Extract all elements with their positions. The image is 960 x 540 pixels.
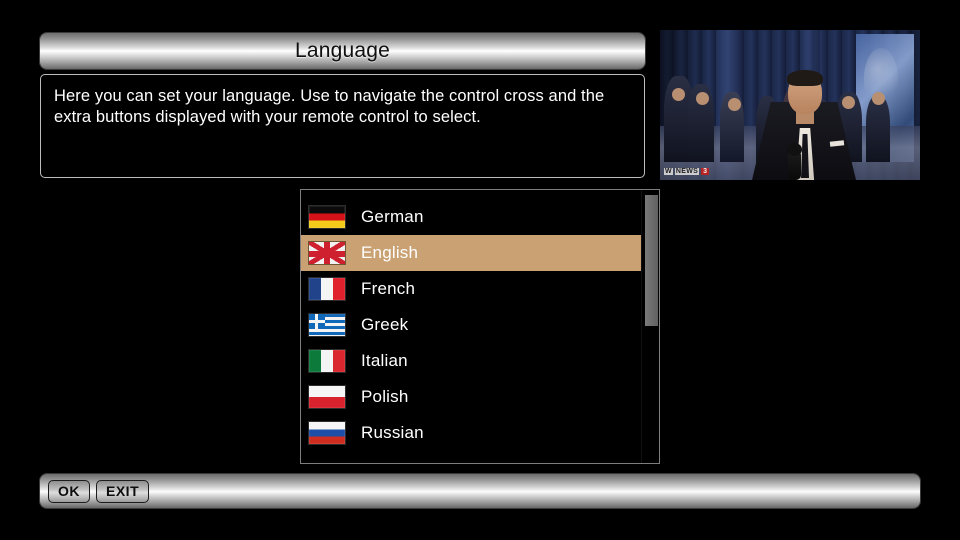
- scrollbar-thumb[interactable]: [645, 195, 658, 326]
- video-crowd-figure: [866, 96, 890, 162]
- language-list: German English French Greek Italian: [301, 190, 641, 463]
- language-list-panel: German English French Greek Italian: [300, 189, 660, 464]
- video-crowd-head: [872, 92, 885, 105]
- window-title-bar: Language: [40, 33, 645, 69]
- list-item-label: Polish: [361, 387, 409, 407]
- list-item-label: Russian: [361, 423, 424, 443]
- help-description-text: Here you can set your language. Use to n…: [54, 86, 631, 128]
- page-title: Language: [295, 39, 390, 63]
- channel-logo-suffix: 3: [701, 168, 709, 175]
- tv-osd-screen: Language Here you can set your language.…: [0, 0, 960, 540]
- list-item[interactable]: English: [301, 235, 641, 271]
- footer-softkey-bar: OK EXIT: [40, 474, 920, 508]
- channel-logo-text: NEWS: [675, 168, 699, 175]
- flag-greece-icon: [308, 313, 346, 337]
- video-crowd-head: [672, 88, 685, 101]
- flag-germany-icon: [308, 205, 346, 229]
- flag-united-kingdom-icon: [308, 241, 346, 265]
- list-item-label: German: [361, 207, 424, 227]
- live-video-preview[interactable]: W NEWS 3: [660, 30, 920, 180]
- flag-uk-cross-vertical: [324, 242, 330, 264]
- list-item[interactable]: Greek: [301, 307, 641, 343]
- list-item[interactable]: Russian: [301, 415, 641, 451]
- channel-logo-prefix: W: [664, 168, 673, 175]
- list-item-label: Italian: [361, 351, 408, 371]
- list-item-label: French: [361, 279, 415, 299]
- flag-france-icon: [308, 277, 346, 301]
- list-item[interactable]: Polish: [301, 379, 641, 415]
- list-item-label: English: [361, 243, 418, 263]
- video-crowd-head: [842, 96, 855, 109]
- microphone-icon: [788, 150, 801, 180]
- ok-button[interactable]: OK: [48, 480, 90, 503]
- flag-russia-icon: [308, 421, 346, 445]
- list-item[interactable]: German: [301, 199, 641, 235]
- video-reporter-hair: [787, 70, 823, 86]
- list-item[interactable]: French: [301, 271, 641, 307]
- channel-logo-bug: W NEWS 3: [664, 166, 709, 177]
- video-crowd-head: [728, 98, 741, 111]
- flag-italy-icon: [308, 349, 346, 373]
- scrollbar[interactable]: [641, 190, 659, 463]
- flag-poland-icon: [308, 385, 346, 409]
- list-item-label: Greek: [361, 315, 408, 335]
- list-item[interactable]: Italian: [301, 343, 641, 379]
- help-description-panel: Here you can set your language. Use to n…: [40, 74, 645, 178]
- exit-button[interactable]: EXIT: [96, 480, 149, 503]
- video-crowd-head: [696, 92, 709, 105]
